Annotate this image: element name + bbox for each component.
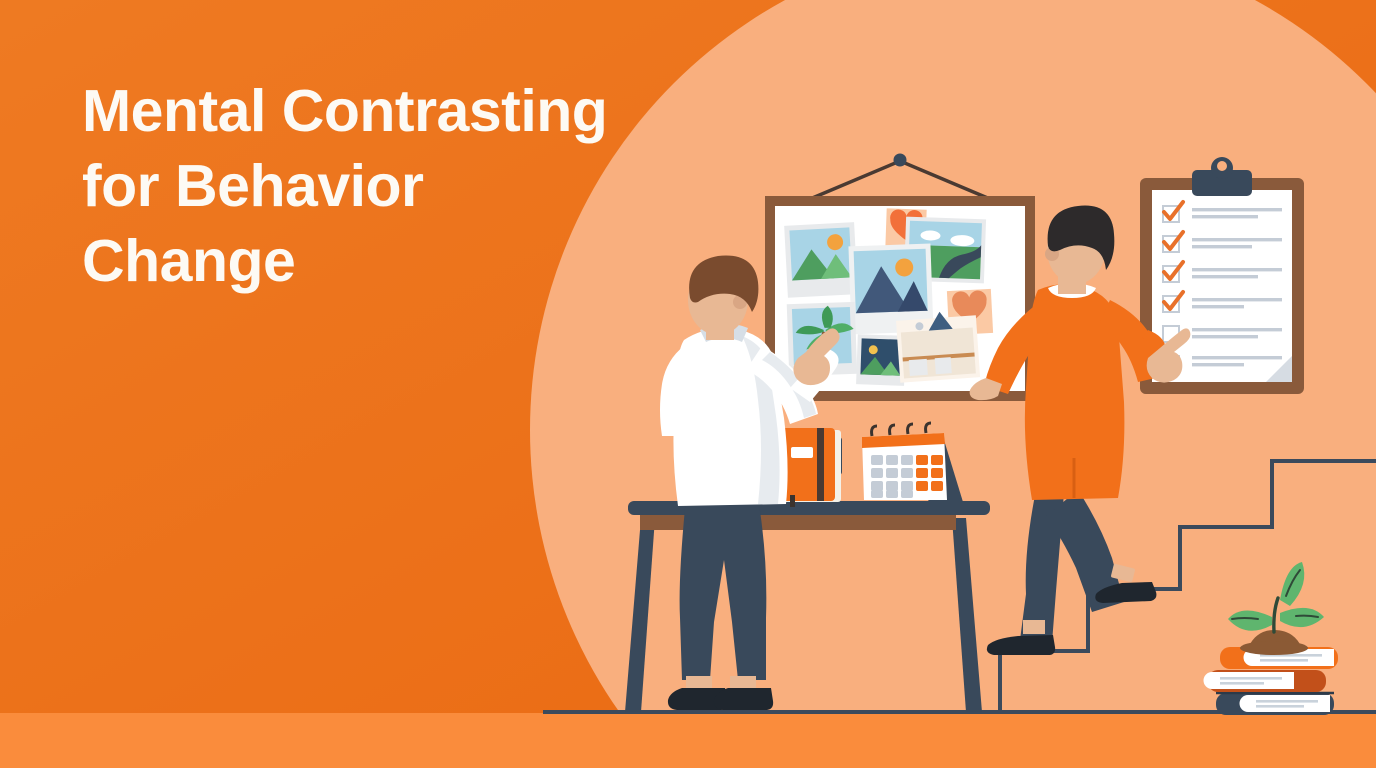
board-nail <box>894 154 907 167</box>
banner-root: Mental Contrasting for Behavior Change <box>0 0 1376 768</box>
photo-green-mountains-sun <box>784 222 858 298</box>
photo-house <box>896 309 981 382</box>
floor-band <box>0 713 1376 768</box>
illustration-canvas <box>0 0 1376 768</box>
book-navy <box>1216 693 1334 715</box>
book-dark-orange <box>1204 670 1327 692</box>
notebook-band <box>817 428 824 501</box>
person-left-shoe-right <box>714 688 773 710</box>
notebook-label <box>791 447 813 458</box>
